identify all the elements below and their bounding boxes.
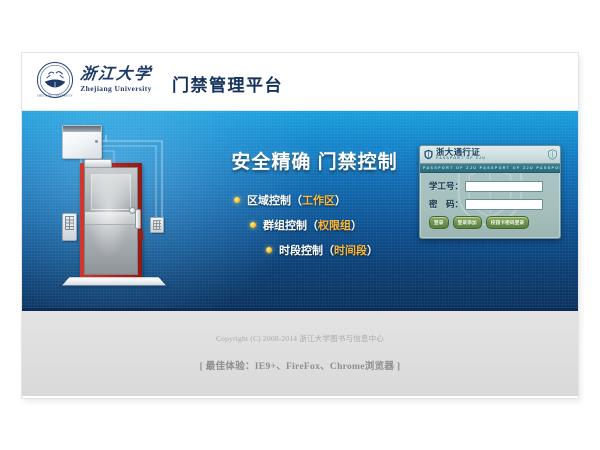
keypad-keys [65,216,74,230]
zhejiang-university-seal-icon: ZHEJIANG UNIVERSITY [36,61,74,99]
door-leaf [84,167,138,275]
logo-name-cn: 浙江大学 [79,67,153,83]
login-title: 浙大通行证 PASSPORT OF ZJU [436,148,486,161]
yellow-dot-icon [234,197,240,203]
hero-banner: 安全精确 门禁控制 区域控制（工作区） 群组控制（权限组） 时段控制（时间段） [22,111,578,311]
door-controller-box [62,125,102,159]
field-row-student-staff-id: 学工号： [429,180,560,192]
hero-copy: 安全精确 门禁控制 区域控制（工作区） 群组控制（权限组） 时段控制（时间段） [202,147,427,258]
hero-bullet-tail: ） [367,242,378,258]
yellow-dot-icon [266,247,272,253]
login-form: 学工号： 密 码： 登录 登录添加 校园卡密码登录 [420,173,560,229]
hero-bullet-group-control: 群组控制（权限组） [250,217,427,233]
login-ticker: PASSPORT OF ZJU PASSPORT OF ZJU PASSPORT… [420,164,560,173]
hero-bullet-text: 时段控制（ [279,242,334,258]
controller-lid [63,126,101,132]
login-button-group: 登录 登录添加 校园卡密码登录 [429,216,560,229]
site-footer: Copyright (C) 2008-2014 浙江大学图书与信息中心 [ 最佳… [22,311,578,396]
hero-bullet-highlight: 权限组 [318,217,351,233]
login-title-cn: 浙大通行证 [436,148,486,157]
hero-bullet-highlight: 工作区 [302,192,335,208]
screen: ZHEJIANG UNIVERSITY 浙江大学 Zhejiang Univer… [0,0,600,450]
password-label: 密 码： [429,198,465,210]
logo-name-en: Zhejiang University [80,85,152,93]
door-band [85,212,137,225]
hero-bullet-tail: ） [335,192,346,208]
site-header: ZHEJIANG UNIVERSITY 浙江大学 Zhejiang Univer… [22,53,578,111]
logo-wordmark: 浙江大学 Zhejiang University [80,67,152,93]
card-reader-grid [153,220,161,230]
yellow-dot-icon [250,222,256,228]
footer-content: Copyright (C) 2008-2014 浙江大学图书与信息中心 [ 最佳… [22,333,578,372]
login-add-button[interactable]: 登录添加 [453,216,482,229]
page-title: 门禁管理平台 [172,71,283,96]
field-row-password: 密 码： [429,198,560,210]
door-closer [84,159,112,168]
hero-bullet-highlight: 时间段 [334,242,367,258]
student-staff-id-field[interactable] [465,181,543,192]
browser-support-note: [ 最佳体验：IE9+、FireFox、Chrome浏览器 ] [22,358,578,372]
campus-card-login-button[interactable]: 校园卡密码登录 [486,216,530,229]
door-strike-plate [139,231,143,240]
page-container: ZHEJIANG UNIVERSITY 浙江大学 Zhejiang Univer… [22,53,578,398]
hero-bullet-text: 群组控制（ [263,217,318,233]
hero-bullet-tail: ） [351,217,362,233]
login-titlebar: 浙大通行证 PASSPORT OF ZJU [420,146,560,164]
copyright-text: Copyright (C) 2008-2014 浙江大学图书与信息中心 [22,333,578,344]
login-button[interactable]: 登录 [429,216,449,229]
login-title-en: PASSPORT OF ZJU [436,157,486,161]
door-pane [91,174,131,210]
password-field[interactable] [465,199,543,210]
hero-headline: 安全精确 门禁控制 [202,147,427,174]
hero-bullet-area-control: 区域控制（工作区） [234,192,427,208]
login-ticker-text: PASSPORT OF ZJU PASSPORT OF ZJU PASSPORT… [420,166,560,170]
door-handle [135,209,141,229]
login-panel: 浙大通行证 PASSPORT OF ZJU PASSPORT OF ZJU PA… [419,145,561,239]
keypad-reader-icon [62,213,77,241]
card-reader-icon [150,217,164,233]
floor-platform [62,277,166,285]
site-logo[interactable]: ZHEJIANG UNIVERSITY 浙江大学 Zhejiang Univer… [36,61,152,99]
access-control-door-illustration [40,121,190,306]
shield-icon [548,149,557,160]
student-staff-id-label: 学工号： [429,180,465,192]
shield-icon [424,149,433,160]
red-door-frame [80,163,142,278]
hero-bullet-text: 区域控制（ [247,192,302,208]
svg-text:ZHEJIANG UNIVERSITY: ZHEJIANG UNIVERSITY [37,95,73,98]
hero-bullet-time-control: 时段控制（时间段） [266,242,427,258]
